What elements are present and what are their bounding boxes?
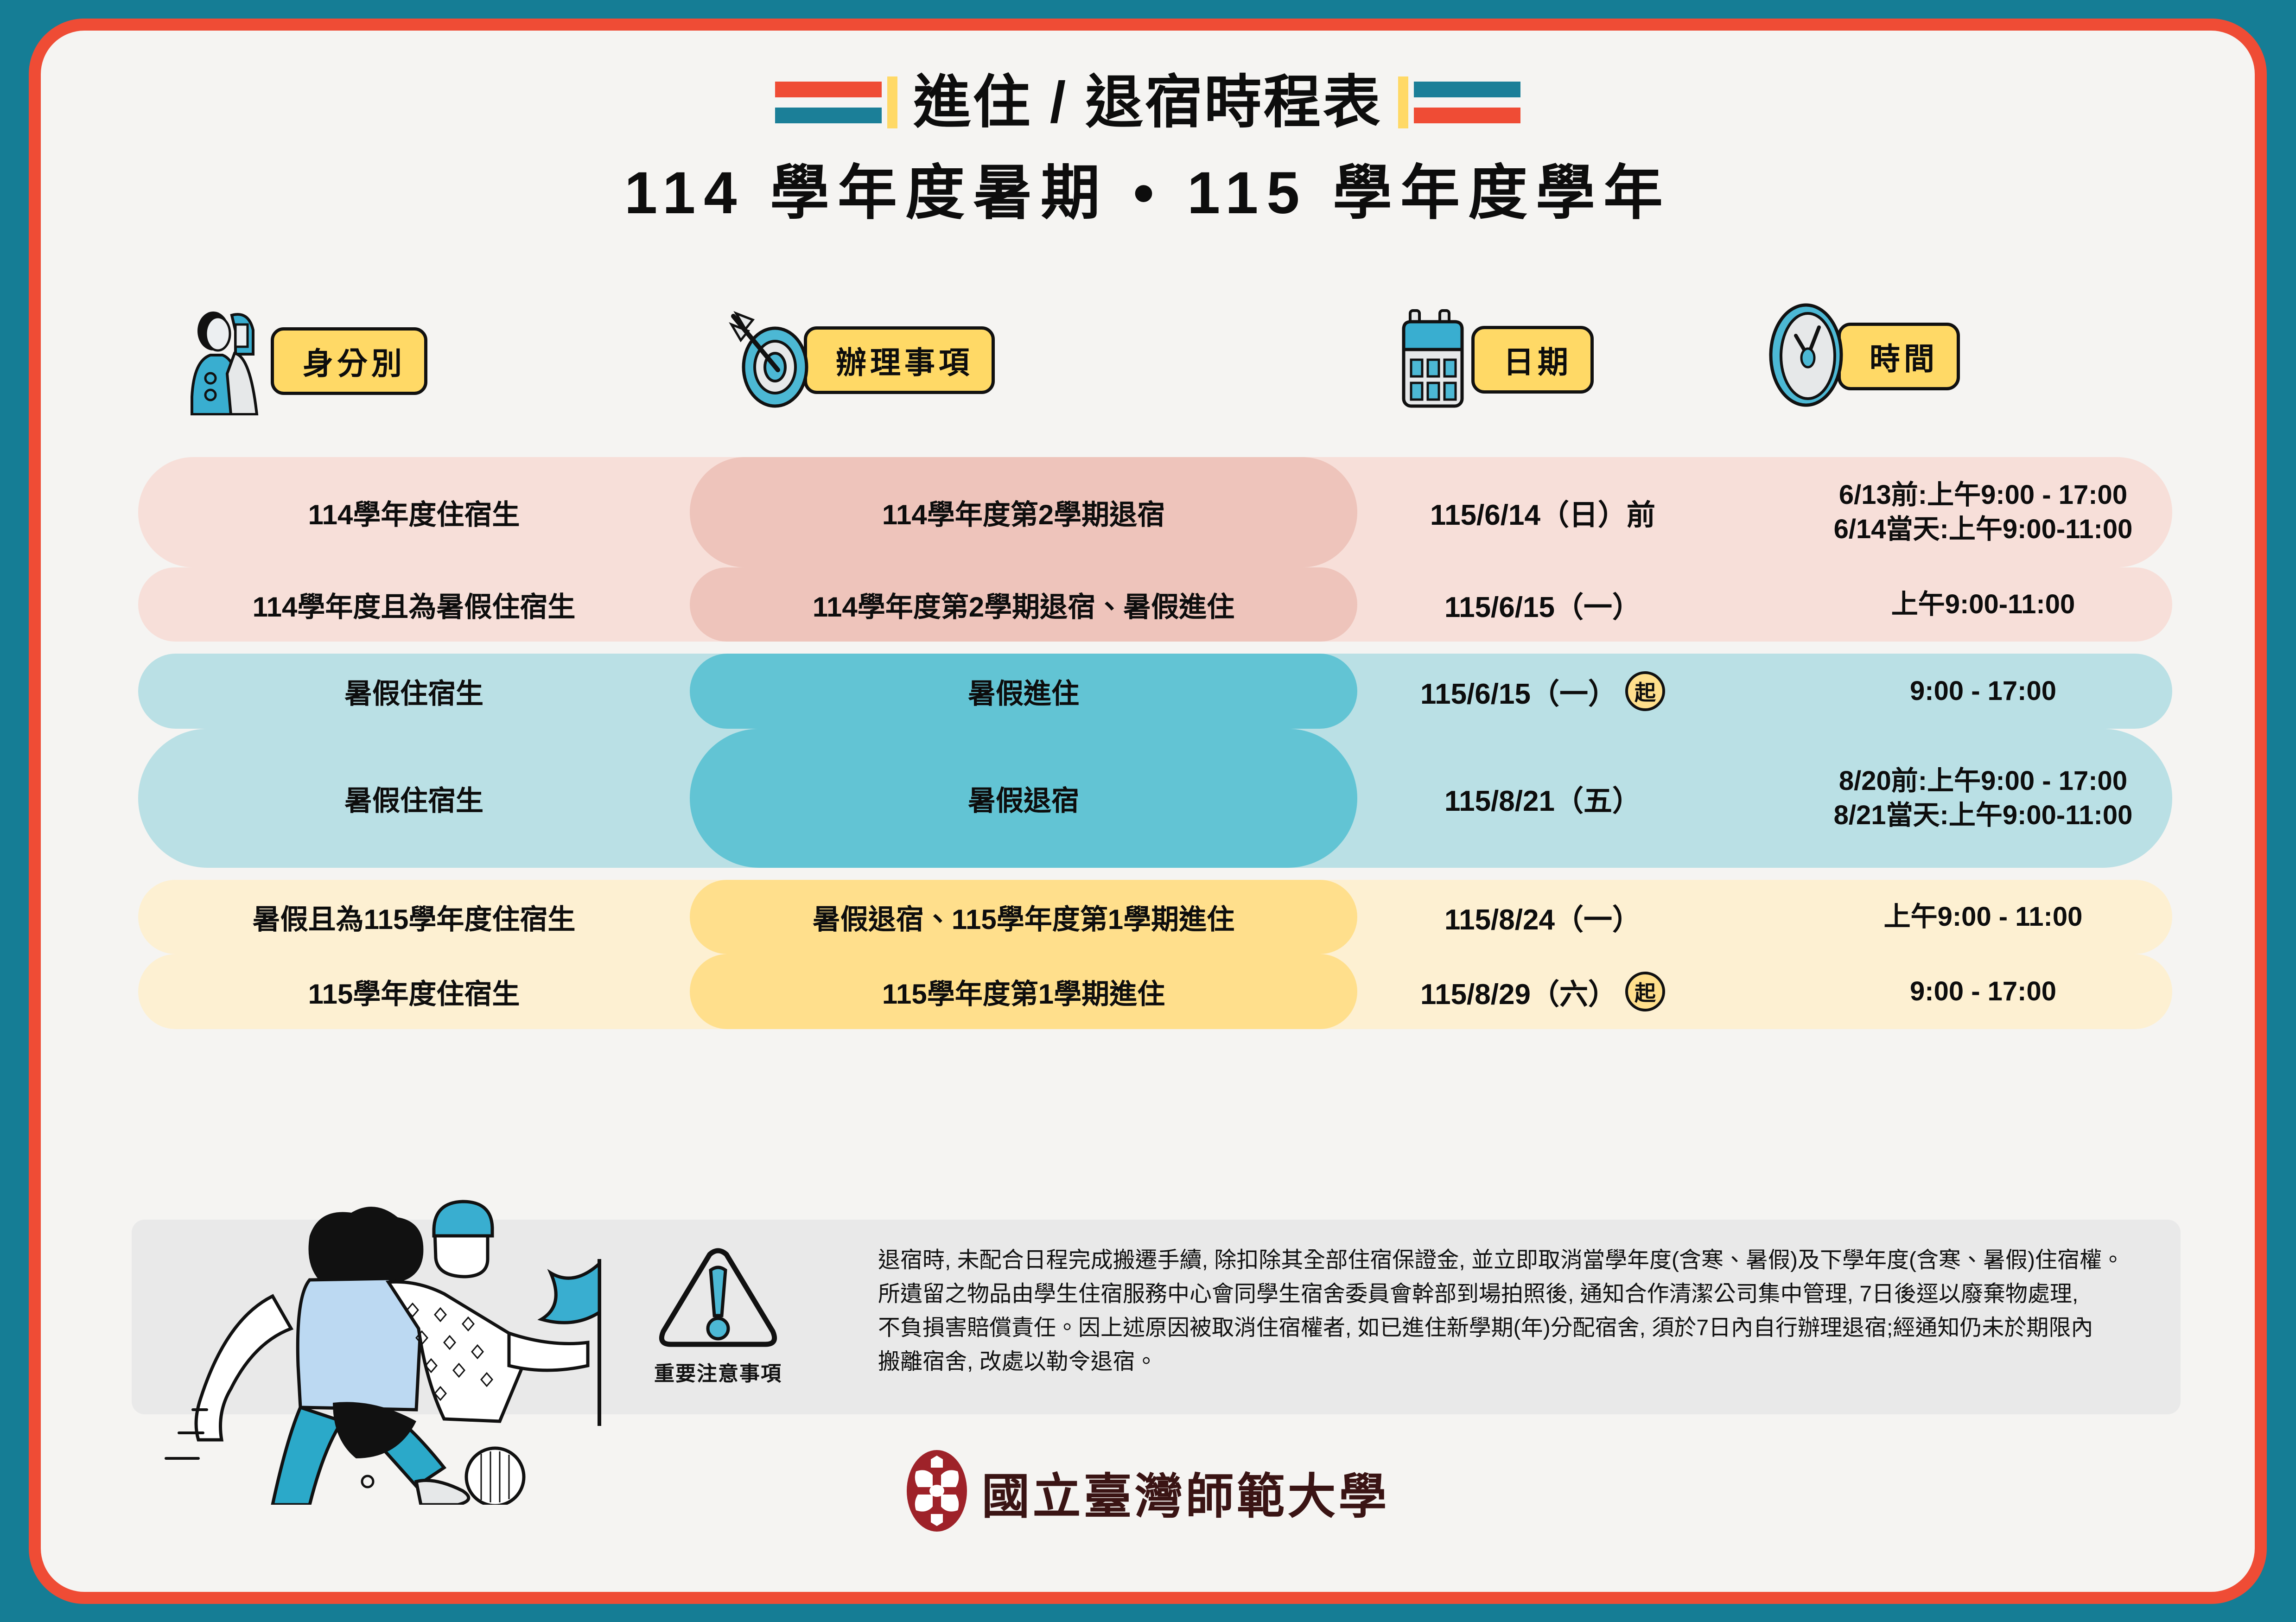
cell-date: 115/6/15（一）起 xyxy=(1367,670,1719,712)
date-text: 115/6/14（日）前 xyxy=(1430,491,1655,533)
notice-line: 所遺留之物品由學生住宿服務中心會同學生宿舍委員會幹部到場拍照後, 通知合作清潔公… xyxy=(878,1278,2157,1311)
cell-identity: 暑假住宿生 xyxy=(138,671,690,712)
date-text: 115/8/24（一） xyxy=(1444,896,1641,938)
title-decoration-left xyxy=(775,76,897,128)
table-row[interactable]: 114學年度且為暑假住宿生114學年度第2學期退宿、暑假進住115/6/15（一… xyxy=(41,567,2255,642)
date-text: 115/6/15（一） xyxy=(1420,670,1617,712)
cell-identity: 暑假且為115學年度住宿生 xyxy=(138,897,690,937)
table-row[interactable]: 115學年度住宿生115學年度第1學期進住115/8/29（六）起9:00 - … xyxy=(41,954,2255,1029)
cell-identity: 115學年度住宿生 xyxy=(138,972,690,1012)
schedule-group-pink: 114學年度住宿生114學年度第2學期退宿115/6/14（日）前6/13前:上… xyxy=(41,457,2255,642)
cell-time: 9:00 - 17:00 xyxy=(1737,974,2229,1009)
cell-date: 115/8/24（一） xyxy=(1367,896,1719,938)
cell-date: 115/8/21（五） xyxy=(1367,777,1719,819)
school-name: 國立臺灣師範大學 xyxy=(981,1457,1389,1527)
cell-date: 115/8/29（六）起 xyxy=(1367,971,1719,1012)
onward-badge: 起 xyxy=(1625,671,1665,711)
column-header-task-label: 辦理事項 xyxy=(804,326,995,394)
column-header-task: 辦理事項 xyxy=(727,308,995,412)
ntnu-seal-icon xyxy=(906,1449,968,1535)
cell-task: 暑假退宿、115學年度第1學期進住 xyxy=(690,897,1357,937)
time-line: 8/21當天:上午9:00-11:00 xyxy=(1737,798,2229,833)
page-title: 進住 / 退宿時程表 114 學年度暑期 • 115 學年度學年 xyxy=(41,72,2255,230)
cell-task: 114學年度第2學期退宿 xyxy=(690,492,1357,533)
title-subtitle: 114 學年度暑期 • 115 學年度學年 xyxy=(41,145,2255,230)
schedule-group-yellow: 暑假且為115學年度住宿生暑假退宿、115學年度第1學期進住115/8/24（一… xyxy=(41,880,2255,1029)
title-decoration-right xyxy=(1398,76,1520,128)
target-icon xyxy=(727,308,820,412)
warning-triangle-icon xyxy=(658,1346,778,1354)
calendar-icon xyxy=(1399,305,1487,414)
poster-card: 進住 / 退宿時程表 114 學年度暑期 • 115 學年度學年 xyxy=(29,19,2267,1604)
column-header-time-label: 時間 xyxy=(1838,323,1960,390)
notice-line: 搬離宿舍, 改處以勒令退宿。 xyxy=(878,1345,2157,1379)
schedule-table: 114學年度住宿生114學年度第2學期退宿115/6/14（日）前6/13前:上… xyxy=(41,457,2255,1029)
cell-task: 115學年度第1學期進住 xyxy=(690,972,1357,1012)
cell-task: 暑假退宿 xyxy=(690,778,1357,819)
cell-time: 上午9:00-11:00 xyxy=(1737,587,2229,622)
cell-date: 115/6/15（一） xyxy=(1367,584,1719,625)
date-text: 115/8/21（五） xyxy=(1444,777,1641,819)
column-header-date-label: 日期 xyxy=(1471,326,1594,394)
notice-text: 退宿時, 未配合日程完成搬遷手續, 除扣除其全部住宿保證金, 並立即取消當學年度… xyxy=(878,1244,2157,1379)
cell-identity: 暑假住宿生 xyxy=(138,778,690,819)
warning-block: 重要注意事項 xyxy=(630,1245,806,1387)
date-text: 115/8/29（六） xyxy=(1420,971,1617,1012)
cell-task: 暑假進住 xyxy=(690,671,1357,712)
notice-line: 不負損害賠償責任。因上述原因被取消住宿權者, 如已進住新學期(年)分配宿舍, 須… xyxy=(878,1311,2157,1345)
title-main-text: 進住 / 退宿時程表 xyxy=(913,72,1382,133)
column-header-identity: 身分別 xyxy=(180,304,427,418)
cell-time: 8/20前:上午9:00 - 17:008/21當天:上午9:00-11:00 xyxy=(1737,764,2229,833)
time-line: 6/13前:上午9:00 - 17:00 xyxy=(1737,478,2229,512)
clock-icon xyxy=(1765,299,1853,413)
column-header-time: 時間 xyxy=(1765,299,1960,413)
school-logo: 國立臺灣師範大學 xyxy=(41,1449,2255,1535)
schedule-group-blue: 暑假住宿生暑假進住115/6/15（一）起9:00 - 17:00暑假住宿生暑假… xyxy=(41,654,2255,868)
cell-identity: 114學年度且為暑假住宿生 xyxy=(138,585,690,625)
cell-time: 6/13前:上午9:00 - 17:006/14當天:上午9:00-11:00 xyxy=(1737,478,2229,547)
warning-label: 重要注意事項 xyxy=(630,1357,806,1387)
date-text: 115/6/15（一） xyxy=(1444,584,1641,625)
notice-line: 退宿時, 未配合日程完成搬遷手續, 除扣除其全部住宿保證金, 並立即取消當學年度… xyxy=(878,1244,2157,1278)
time-line: 6/14當天:上午9:00-11:00 xyxy=(1737,512,2229,547)
cell-task: 114學年度第2學期退宿、暑假進住 xyxy=(690,585,1357,625)
cell-time: 上午9:00 - 11:00 xyxy=(1737,900,2229,934)
time-line: 上午9:00 - 11:00 xyxy=(1737,900,2229,934)
column-header-identity-label: 身分別 xyxy=(271,327,427,395)
time-line: 9:00 - 17:00 xyxy=(1737,674,2229,708)
cell-date: 115/6/14（日）前 xyxy=(1367,491,1719,533)
column-header-date: 日期 xyxy=(1399,305,1594,414)
time-line: 8/20前:上午9:00 - 17:00 xyxy=(1737,764,2229,798)
column-headers: 身分別 辦理事項 xyxy=(41,276,2255,415)
people-icon xyxy=(180,304,286,418)
table-row[interactable]: 114學年度住宿生114學年度第2學期退宿115/6/14（日）前6/13前:上… xyxy=(41,457,2255,567)
time-line: 上午9:00-11:00 xyxy=(1737,587,2229,622)
table-row[interactable]: 暑假住宿生暑假進住115/6/15（一）起9:00 - 17:00 xyxy=(41,654,2255,729)
onward-badge: 起 xyxy=(1625,972,1665,1011)
cell-time: 9:00 - 17:00 xyxy=(1737,674,2229,708)
cell-identity: 114學年度住宿生 xyxy=(138,492,690,533)
table-row[interactable]: 暑假住宿生暑假退宿115/8/21（五）8/20前:上午9:00 - 17:00… xyxy=(41,729,2255,868)
time-line: 9:00 - 17:00 xyxy=(1737,974,2229,1009)
table-row[interactable]: 暑假且為115學年度住宿生暑假退宿、115學年度第1學期進住115/8/24（一… xyxy=(41,880,2255,954)
